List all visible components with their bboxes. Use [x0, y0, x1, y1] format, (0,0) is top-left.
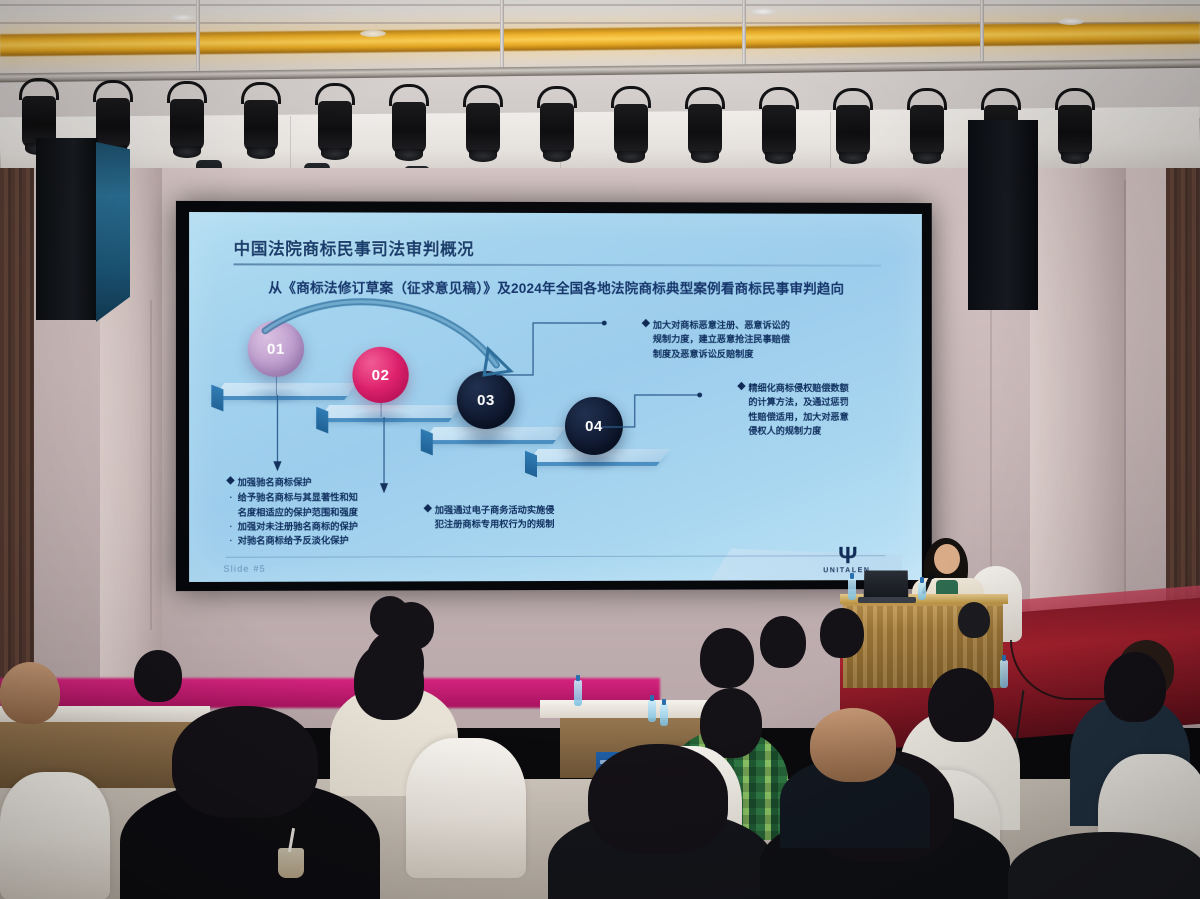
par-light: [318, 101, 352, 153]
callout-01-item-3: 加强对未注册驰名商标的保护: [238, 519, 358, 534]
callout-01-item-1: 给予驰名商标与其显著性和知: [238, 491, 358, 505]
audience-area: [0, 600, 1200, 899]
audience-head: [134, 650, 182, 702]
callout-04-line-2: 的计算方法，及通过惩罚: [748, 395, 907, 409]
par-light: [836, 105, 870, 157]
par-light: [1058, 105, 1092, 157]
callout-01-sub-row: · 给予驰名商标与其显著性和知: [229, 490, 443, 505]
par-light: [170, 99, 204, 151]
slide-subtitle: 从《商标法修订草案（征求意见稿）》及2024年全国各地法院商标典型案例看商标民事…: [189, 276, 922, 297]
ceiling-seam: [0, 4, 1200, 6]
callout-03-line-2: 规制力度，建立恶意抢注民事赔偿: [653, 332, 842, 346]
audience-foreground-head: [588, 744, 728, 854]
callout-01: 加强驰名商标保护 · 给予驰名商标与其显著性和知 · 名度相适应的保护范围和强度…: [227, 475, 443, 548]
audience-head: [0, 662, 60, 724]
callout-04-line-3: 性赔偿适用，加大对恶意: [748, 409, 907, 423]
par-light: [688, 104, 722, 156]
par-light: [762, 105, 796, 157]
callout-02: 加强通过电子商务活动实施侵 犯注册商标专用权行为的规制: [425, 503, 615, 532]
title-divider: [234, 263, 882, 266]
ceiling-pipe: [500, 0, 504, 70]
wall-seam: [150, 300, 152, 630]
soffit-seam: [290, 116, 291, 176]
bullet-diamond-icon: [424, 504, 433, 513]
bullet-diamond-icon: [642, 319, 650, 327]
water-bottle: [848, 578, 856, 600]
line-array-speaker-left-face: [96, 142, 130, 322]
ceiling-downlight: [170, 14, 196, 21]
callout-03-line-1: 加大对商标恶意注册、恶意诉讼的: [653, 318, 790, 332]
par-light: [466, 103, 500, 155]
presentation-photo: 中国法院商标民事司法审判概况 从《商标法修订草案（征求意见稿）》及2024年全国…: [0, 0, 1200, 899]
audience-chair: [0, 772, 110, 899]
callout-03-line-3: 制度及恶意诉讼反赔制度: [653, 347, 842, 361]
par-light: [910, 105, 944, 157]
callout-02-line-2: 犯注册商标专用权行为的规制: [435, 517, 615, 532]
drink-cup: [278, 848, 304, 878]
speaker-head: [934, 544, 960, 574]
par-light: [96, 98, 130, 150]
water-bottle: [660, 704, 668, 726]
water-bottle: [1000, 660, 1008, 688]
water-bottle: [918, 582, 926, 600]
audience-head: [928, 668, 994, 742]
callout-01-item-2: 名度相适应的保护范围和强度: [238, 505, 358, 520]
bullet-diamond-icon: [226, 476, 235, 485]
callout-01-sub-row: · 名度相适应的保护范围和强度: [229, 505, 443, 520]
audience-head: [370, 596, 410, 638]
audience-head: [700, 688, 762, 758]
audience-head-bald: [810, 708, 896, 782]
slide-number: Slide #5: [223, 564, 266, 574]
par-light: [244, 100, 278, 152]
water-bottle: [648, 700, 656, 722]
audience-head: [354, 642, 424, 720]
callout-04-line-4: 侵权人的规制力度: [748, 424, 907, 438]
callout-01-item-4: 对驰名商标给予反淡化保护: [238, 533, 349, 548]
projection-screen: 中国法院商标民事司法审判概况 从《商标法修订草案（征求意见稿）》及2024年全国…: [176, 201, 932, 591]
ceiling-downlight: [750, 8, 776, 15]
ceiling-pipe: [980, 0, 984, 66]
callout-01-sub-row: · 对驰名商标给予反淡化保护: [229, 533, 443, 548]
audience-head: [1104, 652, 1166, 722]
bullet-dot-icon: ·: [229, 534, 232, 548]
line-array-speaker-left: [36, 138, 98, 320]
screen-surface: 中国法院商标民事司法审判概况 从《商标法修订草案（征求意见稿）》及2024年全国…: [189, 212, 922, 582]
callout-04-line-1: 精细化商标侵权赔偿数额: [748, 381, 848, 395]
ceiling-downlight: [360, 30, 386, 37]
audience-foreground-head: [172, 706, 318, 818]
ceiling-pipe: [196, 0, 200, 72]
audience-head: [820, 608, 864, 658]
par-light: [392, 102, 426, 154]
water-bottle: [574, 680, 582, 706]
laptop-screen: [864, 571, 909, 600]
bullet-dot-icon: ·: [229, 519, 232, 533]
unitalen-logo-mark: Ψ: [823, 545, 870, 567]
bullet-diamond-icon: [737, 382, 745, 390]
callout-04: 精细化商标侵权赔偿数额 的计算方法，及通过惩罚 性赔偿适用，加大对恶意 侵权人的…: [738, 381, 907, 438]
soffit-seam: [830, 112, 831, 172]
ceiling-pipe: [742, 0, 746, 68]
line-array-speaker-right: [968, 120, 1038, 310]
audience-chair: [406, 738, 526, 878]
callout-01-heading: 加强驰名商标保护: [238, 475, 312, 489]
ceiling-seam: [0, 22, 1200, 24]
par-light: [540, 103, 574, 155]
ceiling-downlight: [1058, 18, 1084, 25]
callout-02-line-1: 加强通过电子商务活动实施侵: [435, 503, 555, 517]
audience-head: [760, 616, 806, 668]
callout-01-sub-row: · 加强对未注册驰名商标的保护: [229, 519, 443, 534]
presentation-slide: 中国法院商标民事司法审判概况 从《商标法修订草案（征求意见稿）》及2024年全国…: [189, 212, 922, 582]
par-light: [614, 104, 648, 156]
audience-head: [958, 602, 990, 638]
gold-led-strip: [0, 22, 1200, 57]
slide-title: 中国法院商标民事司法审判概况: [234, 235, 475, 260]
audience-head: [700, 628, 754, 688]
callout-03: 加大对商标恶意注册、恶意诉讼的 规制力度，建立恶意抢注民事赔偿 制度及恶意诉讼反…: [643, 318, 842, 361]
bullet-dot-icon: ·: [229, 491, 232, 505]
